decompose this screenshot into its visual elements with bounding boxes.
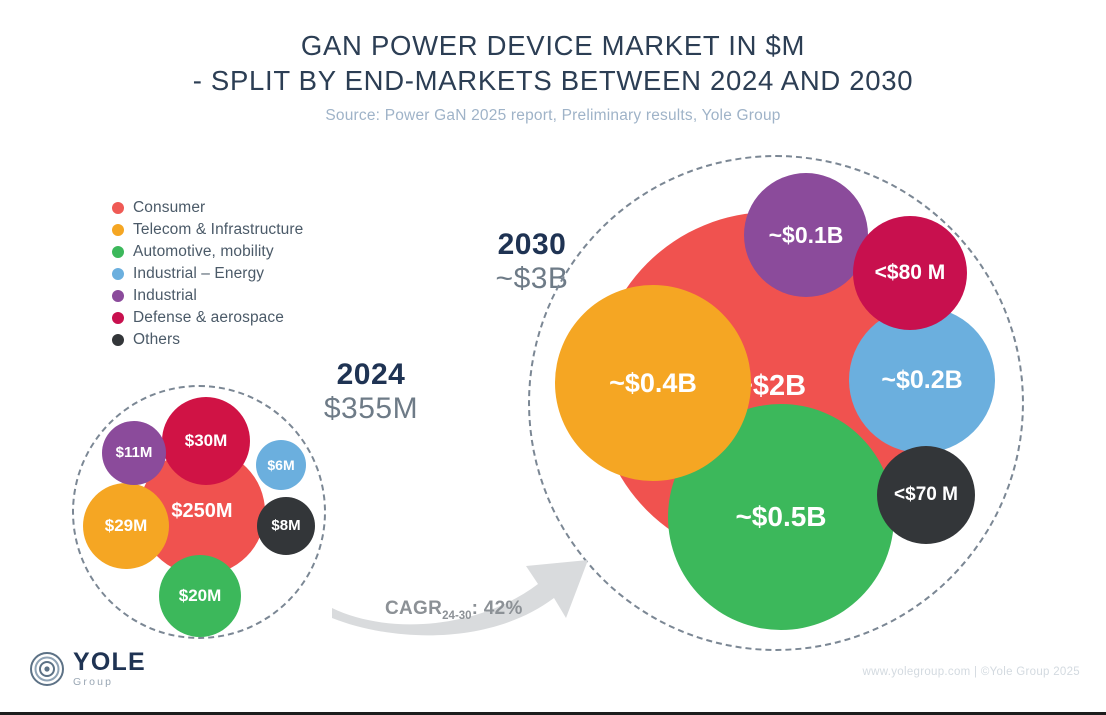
legend-swatch-icon bbox=[112, 224, 124, 236]
bubble-value-label: $20M bbox=[176, 587, 225, 605]
bubble-2024-automotive-mobility: $20M bbox=[159, 555, 241, 637]
bubble-value-label: $11M bbox=[113, 445, 156, 461]
bubble-value-label: ~$0.2B bbox=[878, 367, 965, 394]
bubble-2024-others: $8M bbox=[257, 497, 315, 555]
yole-logo: YOLE Group bbox=[30, 650, 146, 688]
page-title-line-2: - SPLIT BY END-MARKETS BETWEEN 2024 AND … bbox=[0, 63, 1106, 98]
bubble-2030-industrial-energy: ~$0.2B bbox=[849, 307, 995, 453]
legend-item-label: Consumer bbox=[133, 199, 205, 217]
cagr-value: : 42% bbox=[472, 598, 523, 619]
legend-item-label: Telecom & Infrastructure bbox=[133, 221, 303, 239]
bubble-value-label: ~$0.4B bbox=[606, 369, 700, 398]
legend-item: Industrial – Energy bbox=[112, 264, 303, 284]
cagr-label: CAGR24-30: 42% bbox=[385, 598, 523, 622]
legend: ConsumerTelecom & InfrastructureAutomoti… bbox=[112, 198, 303, 352]
bubble-2024-defense-aerospace: $30M bbox=[162, 397, 250, 485]
bubble-value-label: $250M bbox=[168, 501, 235, 522]
source-note: Source: Power GaN 2025 report, Prelimina… bbox=[0, 107, 1106, 125]
yole-mark-icon bbox=[30, 652, 64, 686]
legend-swatch-icon bbox=[112, 202, 124, 214]
bubble-2030-industrial: ~$0.1B bbox=[744, 173, 868, 297]
bubble-2024-telecom-infrastructure: $29M bbox=[83, 483, 169, 569]
cagr-arrow-icon bbox=[330, 520, 610, 645]
legend-item: Telecom & Infrastructure bbox=[112, 220, 303, 240]
title-block: GAN POWER DEVICE MARKET IN $M - SPLIT BY… bbox=[0, 28, 1106, 125]
legend-item: Industrial bbox=[112, 286, 303, 306]
legend-item: Consumer bbox=[112, 198, 303, 218]
footer-credit: www.yolegroup.com | ©Yole Group 2025 bbox=[863, 666, 1080, 678]
legend-item-label: Others bbox=[133, 331, 180, 349]
legend-swatch-icon bbox=[112, 334, 124, 346]
legend-swatch-icon bbox=[112, 290, 124, 302]
legend-item: Others bbox=[112, 330, 303, 350]
bubble-value-label: <$70 M bbox=[891, 485, 961, 505]
bubble-value-label: $30M bbox=[182, 432, 231, 450]
legend-swatch-icon bbox=[112, 268, 124, 280]
legend-item-label: Industrial – Energy bbox=[133, 265, 264, 283]
bubble-value-label: $29M bbox=[102, 517, 151, 535]
legend-item-label: Defense & aerospace bbox=[133, 309, 284, 327]
bubble-value-label: ~$0.1B bbox=[766, 223, 847, 248]
legend-item-label: Automotive, mobility bbox=[133, 243, 274, 261]
cagr-prefix: CAGR bbox=[385, 598, 442, 619]
cagr-subscript: 24-30 bbox=[442, 610, 471, 622]
logo-subtitle: Group bbox=[73, 677, 146, 688]
bubble-value-label: $6M bbox=[264, 458, 297, 473]
bubble-2030-telecom-infrastructure: ~$0.4B bbox=[555, 285, 751, 481]
page-title-line-1: GAN POWER DEVICE MARKET IN $M bbox=[0, 28, 1106, 63]
legend-item: Defense & aerospace bbox=[112, 308, 303, 328]
logo-name: YOLE bbox=[73, 650, 146, 675]
bubble-cluster-2024: $250M$30M$29M$20M$11M$8M$6M bbox=[72, 385, 326, 639]
legend-swatch-icon bbox=[112, 312, 124, 324]
bubble-2030-defense-aerospace: <$80 M bbox=[853, 216, 967, 330]
bubble-2024-industrial-energy: $6M bbox=[256, 440, 306, 490]
bubble-2030-others: <$70 M bbox=[877, 446, 975, 544]
bubble-value-label: <$80 M bbox=[872, 262, 949, 284]
legend-item-label: Industrial bbox=[133, 287, 197, 305]
bubble-value-label: ~$0.5B bbox=[732, 502, 829, 532]
yole-logo-text: YOLE Group bbox=[73, 650, 146, 688]
legend-item: Automotive, mobility bbox=[112, 242, 303, 262]
bubble-value-label: $8M bbox=[268, 518, 303, 534]
infographic-slide: GAN POWER DEVICE MARKET IN $M - SPLIT BY… bbox=[0, 0, 1106, 715]
bubble-2024-industrial: $11M bbox=[102, 421, 166, 485]
legend-swatch-icon bbox=[112, 246, 124, 258]
